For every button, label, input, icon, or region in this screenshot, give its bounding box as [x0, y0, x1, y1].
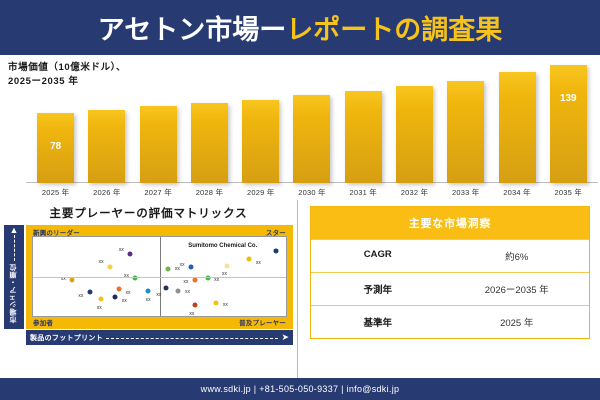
quadrant-label-participants: 参加者 — [33, 317, 53, 327]
matrix-data-point-label: xx — [175, 266, 180, 272]
chart-x-axis-labels: 2025 年2026 年2027 年2028 年2029 年2030 年2031… — [30, 187, 594, 198]
footer-contact-text: www.sdki.jp | +81-505-050-9337 | info@sd… — [201, 384, 400, 394]
table-cell-value: 2025 年 — [444, 306, 589, 338]
x-axis-tick-label: 2027 年 — [133, 187, 184, 198]
bar-group — [286, 55, 337, 200]
matrix-y-axis: ▲ 市場シェア・順位 — [4, 225, 24, 329]
matrix-data-point — [163, 286, 168, 291]
table-row: 基準年2025 年 — [311, 305, 589, 338]
x-axis-tick-label: 2026 年 — [81, 187, 132, 198]
x-axis-tick-label: 2028 年 — [184, 187, 235, 198]
matrix-data-point-label: xx — [222, 271, 227, 277]
matrix-data-point — [70, 277, 75, 282]
x-axis-dashed-line — [106, 338, 278, 339]
bar-group — [338, 55, 389, 200]
matrix-data-point — [117, 287, 122, 292]
bar: 139 — [550, 65, 587, 183]
matrix-data-point-label: xx — [97, 305, 102, 311]
matrix-data-point — [166, 266, 171, 271]
matrix-data-point-label: xx — [185, 289, 190, 295]
x-axis-tick-label: 2025 年 — [30, 187, 81, 198]
matrix-data-point-label: xx — [223, 302, 228, 308]
matrix-data-point — [214, 301, 219, 306]
key-insights-table-body: CAGR約6%予測年2026ー2035 年基準年2025 年 — [311, 239, 589, 338]
matrix-data-point-label: xx — [99, 259, 104, 265]
bar — [191, 103, 228, 183]
x-axis-tick-label: 2030 年 — [286, 187, 337, 198]
matrix-y-axis-label: 市場シェア・順位 — [9, 264, 19, 323]
page-title-accent: レポートの調査果 — [286, 15, 502, 45]
matrix-data-point — [87, 290, 92, 295]
up-arrow-icon: ▲ — [10, 227, 19, 234]
matrix-data-point-label: xx — [183, 279, 188, 285]
bar-group: 139 — [543, 55, 594, 200]
matrix-data-point-label: xx — [273, 248, 278, 254]
bar-group — [440, 55, 491, 200]
bar-group — [184, 55, 235, 200]
matrix-data-point — [146, 288, 151, 293]
x-axis-tick-label: 2033 年 — [440, 187, 491, 198]
bar — [140, 106, 177, 183]
matrix-data-point-label: xx — [126, 290, 131, 296]
market-value-bar-chart: 市場価値（10億米ドル）、 2025ー2035 年 78139 2025 年20… — [0, 55, 600, 200]
table-cell-key: 予測年 — [311, 273, 444, 305]
matrix-data-point-label: xx — [180, 262, 185, 268]
matrix-data-point — [99, 296, 104, 301]
x-axis-tick-label: 2034 年 — [491, 187, 542, 198]
chart-subtitle-line2: 2025ー2035 年 — [8, 75, 126, 89]
evaluation-matrix-panel: 主要プレーヤーの評価マトリックス ▲ 市場シェア・順位 新興のリーダー スター … — [0, 200, 298, 378]
matrix-data-point-label: xx — [124, 273, 129, 279]
bar — [88, 110, 125, 184]
x-axis-tick-label: 2029 年 — [235, 187, 286, 198]
matrix-data-point — [133, 276, 138, 281]
table-row: CAGR約6% — [311, 239, 589, 272]
matrix-named-player-label: Sumitomo Chemical Co. — [188, 243, 257, 249]
chart-subtitle-line1: 市場価値（10億米ドル）、 — [8, 61, 126, 75]
matrix-data-point — [192, 278, 197, 283]
bar-value-label: 139 — [550, 93, 587, 104]
matrix-data-point — [247, 257, 252, 262]
matrix-data-point — [176, 288, 181, 293]
matrix-data-point — [108, 265, 113, 270]
matrix-data-point — [189, 265, 194, 270]
key-insights-table-header: 主要な市場洞察 — [311, 207, 589, 239]
bar — [447, 81, 484, 183]
matrix-x-axis: 製品のフットプリント ➤ — [26, 330, 293, 345]
matrix-data-point-label: xx — [214, 277, 219, 283]
table-cell-value: 約6% — [444, 240, 589, 272]
lower-section: 主要プレーヤーの評価マトリックス ▲ 市場シェア・順位 新興のリーダー スター … — [0, 200, 600, 378]
bar-group — [389, 55, 440, 200]
page-title: アセトン市場ーレポートの調査果 — [98, 8, 502, 47]
table-cell-key: CAGR — [311, 240, 444, 272]
page-title-primary: アセトン市場ー — [98, 15, 286, 45]
matrix-data-point — [205, 276, 210, 281]
x-axis-tick-label: 2032 年 — [389, 187, 440, 198]
matrix-data-point — [224, 264, 229, 269]
bar — [396, 86, 433, 183]
matrix-data-point-label: xx — [189, 311, 194, 317]
page-header: アセトン市場ーレポートの調査果 — [0, 0, 600, 55]
matrix-data-point — [128, 252, 133, 257]
matrix-data-point — [113, 295, 118, 300]
matrix-x-axis-label: 製品のフットプリント — [30, 333, 103, 343]
key-insights-panel: 主要な市場洞察 CAGR約6%予測年2026ー2035 年基準年2025 年 — [298, 200, 600, 378]
matrix-quadrant-frame: 新興のリーダー スター 参加者 普及プレーヤー xxxxxxxxxxxxxxxx… — [26, 225, 293, 329]
bar-value-label: 78 — [37, 141, 74, 152]
matrix-data-point-label: xx — [119, 247, 124, 253]
y-axis-dashed-line — [14, 235, 15, 261]
matrix-plot-area: xxxxxxxxxxxxxxxxxxxxxxxxxxxxxxxxxxxxxxxx… — [32, 236, 287, 317]
matrix-title: 主要プレーヤーの評価マトリックス — [4, 205, 293, 221]
matrix-data-point-label: xx — [61, 276, 66, 282]
table-cell-key: 基準年 — [311, 306, 444, 338]
matrix-data-point-label: xx — [156, 292, 161, 298]
x-axis-tick-label: 2035 年 — [543, 187, 594, 198]
page-footer: www.sdki.jp | +81-505-050-9337 | info@sd… — [0, 378, 600, 400]
bar — [242, 100, 279, 183]
matrix-data-point — [192, 302, 197, 307]
bar-group — [235, 55, 286, 200]
chart-subtitle: 市場価値（10億米ドル）、 2025ー2035 年 — [8, 61, 126, 89]
matrix-data-point-label: xx — [122, 298, 127, 304]
bar: 78 — [37, 113, 74, 183]
right-arrow-icon: ➤ — [281, 334, 289, 341]
key-insights-table: 主要な市場洞察 CAGR約6%予測年2026ー2035 年基準年2025 年 — [310, 206, 590, 339]
table-cell-value: 2026ー2035 年 — [444, 273, 589, 305]
bar — [293, 95, 330, 183]
bar — [499, 72, 536, 183]
matrix-body: ▲ 市場シェア・順位 新興のリーダー スター 参加者 普及プレーヤー xxxxx… — [4, 225, 293, 345]
quadrant-label-pervasive-players: 普及プレーヤー — [239, 317, 286, 327]
matrix-data-point-label: xx — [256, 260, 261, 266]
matrix-data-point-label: xx — [78, 293, 83, 299]
bar — [345, 91, 382, 183]
matrix-data-point-label: xx — [146, 297, 151, 303]
bar-group — [491, 55, 542, 200]
table-row: 予測年2026ー2035 年 — [311, 272, 589, 305]
x-axis-tick-label: 2031 年 — [338, 187, 389, 198]
bar-group — [133, 55, 184, 200]
